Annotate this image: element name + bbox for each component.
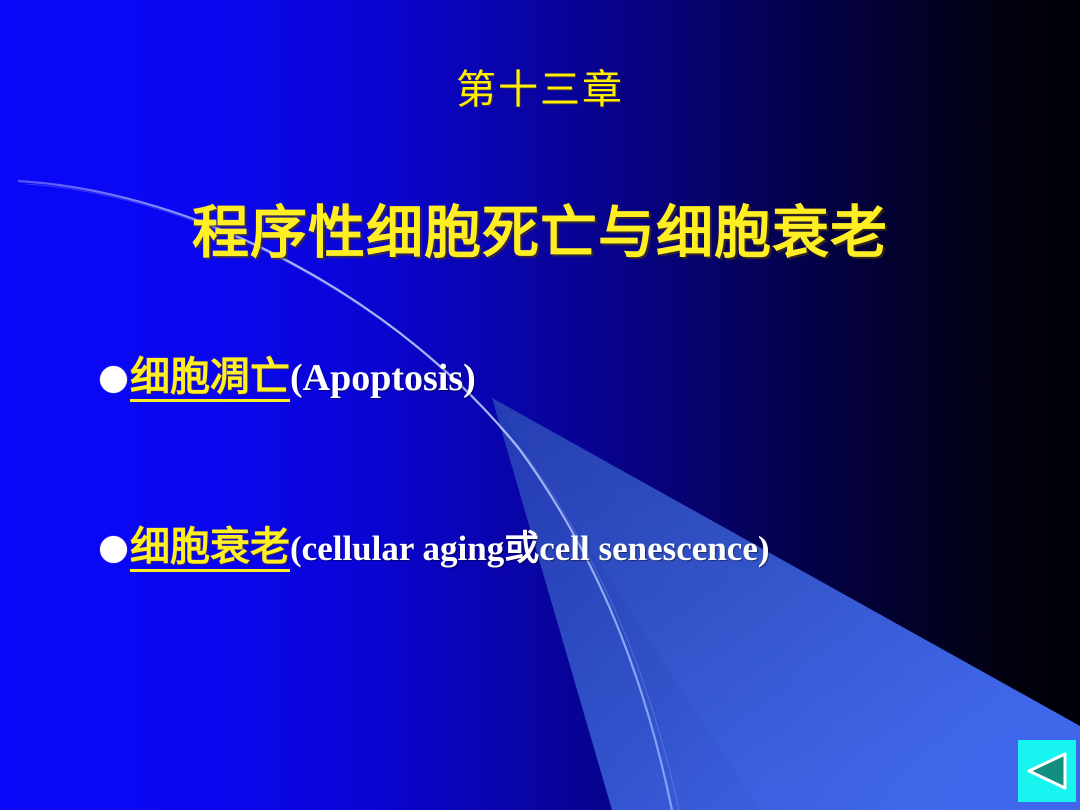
bullet-term-english: (Apoptosis): [290, 359, 476, 399]
page-title: 程序性细胞死亡与细胞衰老: [0, 205, 1080, 262]
decor-arc-curve-secondary: [26, 184, 679, 810]
slide-background-decoration: [0, 0, 1080, 810]
filled-circle-bullet-icon: [100, 366, 127, 393]
bullet-term-chinese: 细胞衰老: [130, 526, 290, 572]
bullet-term-english: (cellular aging或cell senescence): [290, 531, 770, 568]
presentation-slide: 第十三章 程序性细胞死亡与细胞衰老 细胞凋亡 (Apoptosis) 细胞衰老 …: [0, 0, 1080, 810]
filled-circle-bullet-icon: [100, 536, 127, 563]
nav-back-button[interactable]: [1018, 740, 1076, 802]
triangle-left-icon: [1025, 751, 1069, 791]
bullet-item-senescence: 细胞衰老 (cellular aging或cell senescence): [100, 526, 770, 572]
chapter-label: 第十三章: [0, 70, 1080, 110]
bullet-term-chinese: 细胞凋亡: [130, 356, 290, 402]
decor-arc-curve: [18, 181, 672, 810]
decor-wedge-large: [492, 398, 1080, 810]
decor-wedge-inner: [492, 398, 1080, 810]
bullet-item-apoptosis: 细胞凋亡 (Apoptosis): [100, 356, 476, 402]
